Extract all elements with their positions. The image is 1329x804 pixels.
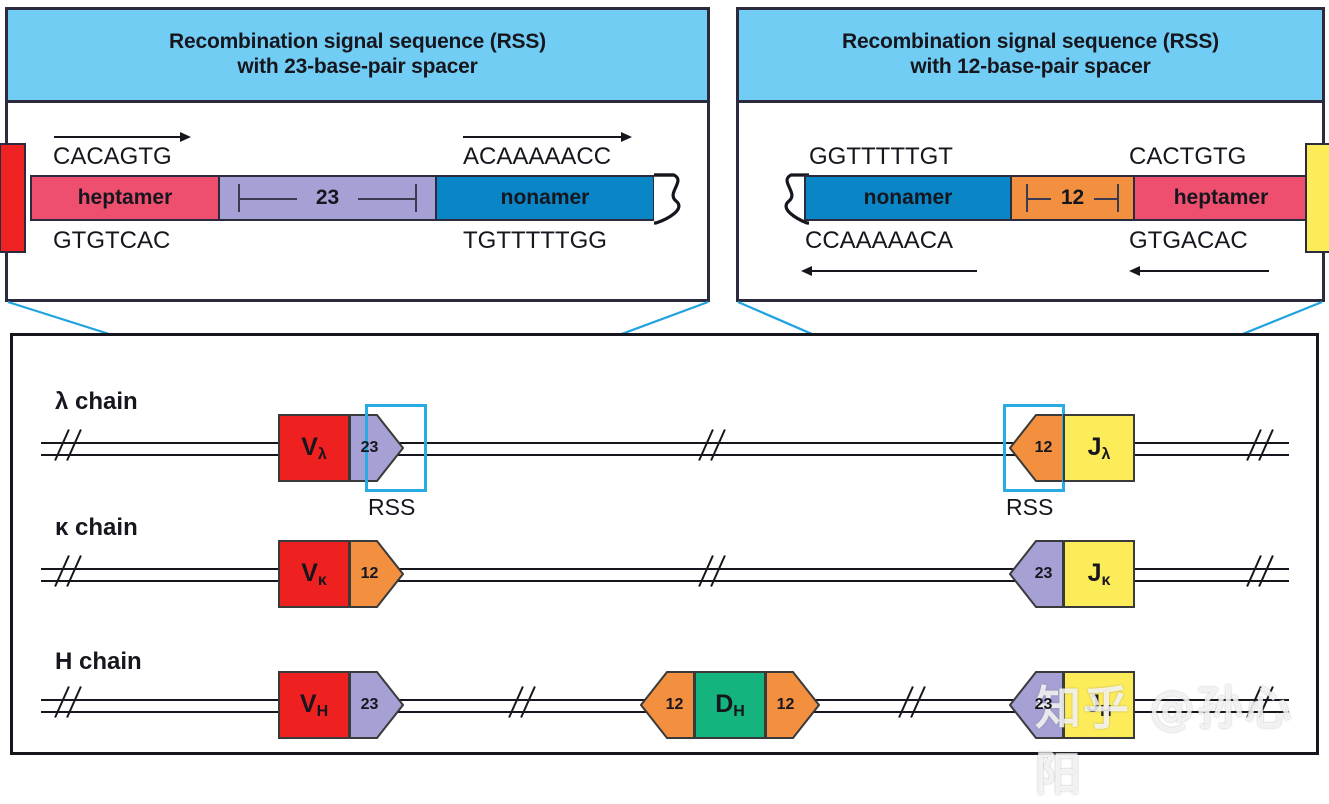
rss-23-bottom-sequence-left: GTGTCAC	[53, 227, 170, 255]
rss-23-spacer-segment: 23	[218, 175, 437, 221]
lambda-v-segment: Vλ	[278, 414, 350, 482]
lambda-j-label: J	[1088, 433, 1102, 461]
rss-12-spacer-tick-right	[1117, 184, 1119, 212]
h-d-rss-left-12: 12	[640, 671, 695, 739]
rss-12-panel-body: GGTTTTTGT CACTGTG nonamer 12 heptamer CC…	[739, 103, 1322, 302]
rss-23-title-line1: Recombination signal sequence (RSS)	[169, 30, 546, 55]
rss-23-top-sequence-left: CACAGTG	[53, 143, 172, 171]
rss-23-spacer-label: 23	[316, 186, 339, 210]
rss-12-bar: nonamer 12 heptamer	[804, 175, 1309, 221]
h-d-label: D	[715, 690, 733, 718]
rss-23-bar: heptamer 23 nonamer	[30, 175, 655, 221]
lambda-break-right	[1249, 428, 1275, 462]
rss-12-panel-title: Recombination signal sequence (RSS) with…	[739, 10, 1322, 103]
kappa-j-subscript: κ	[1101, 572, 1110, 589]
rss-23-title-line2: with 23-base-pair spacer	[169, 55, 546, 80]
h-d-rss-right-value: 12	[777, 696, 795, 714]
lambda-v-label: V	[301, 433, 318, 461]
rss-12-top-sequence-right: CACTGTG	[1129, 143, 1246, 171]
h-break-right	[1249, 685, 1275, 719]
rss-23-top-right-arrow-line	[463, 136, 623, 138]
h-v-rss-23: 23	[349, 671, 404, 739]
rss-23-panel-title: Recombination signal sequence (RSS) with…	[8, 10, 707, 103]
h-v-subscript: H	[317, 703, 329, 720]
rss-12-spacer-segment: 12	[1010, 175, 1135, 221]
h-break-mid-right	[901, 685, 927, 719]
h-j-rss-value: 23	[1035, 696, 1053, 714]
rss-12-title-line1: Recombination signal sequence (RSS)	[842, 30, 1219, 55]
lambda-v-rss-caption: RSS	[368, 494, 415, 521]
rss-12-spacer-rule-right	[1094, 198, 1118, 200]
rss-23-bottom-sequence-right: TGTTTTTGG	[463, 227, 607, 255]
lambda-j-subscript: λ	[1102, 446, 1111, 463]
rss-12-spacer-label: 12	[1061, 186, 1084, 210]
h-v-rss-value: 23	[361, 696, 379, 714]
lambda-v-rss-value: 23	[361, 439, 379, 457]
rss-23-panel-body: CACAGTG ACAAAAACC heptamer 23 nonamer GT…	[8, 103, 707, 302]
kappa-v-label: V	[301, 559, 318, 587]
rss-23-red-endcap	[0, 143, 26, 253]
rss-12-bottom-left-arrow-line	[811, 270, 977, 272]
kappa-v-segment: Vκ	[278, 540, 350, 608]
lambda-break-middle	[701, 428, 727, 462]
kappa-j-label: J	[1088, 559, 1102, 587]
rss-12-heptamer-segment: heptamer	[1133, 175, 1309, 221]
rss-12-bottom-right-arrowhead	[1129, 266, 1140, 276]
kappa-break-middle	[701, 554, 727, 588]
h-j-label: J	[1086, 690, 1100, 718]
rss-23-spacer-rule-right	[358, 198, 416, 200]
lambda-j-segment: Jλ	[1063, 414, 1135, 482]
rss-23-top-left-arrow-line	[54, 136, 182, 138]
kappa-v-rss-12: 12	[349, 540, 404, 608]
rss-23-top-right-arrowhead	[621, 132, 632, 142]
h-chain-label: H chain	[55, 648, 142, 676]
rss-23-spacer-tick-right	[415, 184, 417, 212]
h-j-segment: JH	[1063, 671, 1135, 739]
rss-23-panel: Recombination signal sequence (RSS) with…	[5, 7, 710, 302]
rss-23-nonamer-segment: nonamer	[435, 175, 655, 221]
rss-23-top-left-arrowhead	[180, 132, 191, 142]
rss-23-spacer-rule-left	[239, 198, 297, 200]
rss-12-bottom-sequence-left: CCAAAAACA	[805, 227, 953, 255]
h-break-mid-left	[511, 685, 537, 719]
kappa-break-right	[1249, 554, 1275, 588]
rss-23-heptamer-segment: heptamer	[30, 175, 220, 221]
rss-12-yellow-endcap	[1305, 143, 1329, 253]
h-v-label: V	[300, 690, 317, 718]
h-v-segment: VH	[278, 671, 350, 739]
h-d-rss-left-value: 12	[666, 696, 684, 714]
rss-23-top-sequence-right: ACAAAAACC	[463, 143, 611, 171]
h-j-rss-23: 23	[1009, 671, 1064, 739]
kappa-chain-label: κ chain	[55, 514, 138, 542]
kappa-break-left	[57, 554, 83, 588]
rss-12-top-sequence-left: GGTTTTTGT	[809, 143, 953, 171]
lambda-break-left	[57, 428, 83, 462]
kappa-v-rss-value: 12	[361, 565, 379, 583]
h-d-subscript: H	[733, 703, 745, 720]
h-d-rss-right-12: 12	[765, 671, 820, 739]
lambda-j-rss-caption: RSS	[1006, 494, 1053, 521]
rss-12-title-line2: with 12-base-pair spacer	[842, 55, 1219, 80]
h-break-left	[57, 685, 83, 719]
h-j-subscript: H	[1100, 703, 1112, 720]
lambda-j-rss-value: 12	[1035, 439, 1053, 457]
rss-12-spacer-rule-left	[1027, 198, 1051, 200]
rss-12-bottom-sequence-right: GTGACAC	[1129, 227, 1248, 255]
kappa-j-segment: Jκ	[1063, 540, 1135, 608]
kappa-v-subscript: κ	[318, 572, 327, 589]
h-d-segment: DH	[694, 671, 766, 739]
rss-12-panel: Recombination signal sequence (RSS) with…	[736, 7, 1325, 302]
gene-loci-panel: λ chain Vλ 23 RSS 12 RSS Jλ κ chain	[10, 333, 1319, 755]
rss-23-break-squiggle	[652, 173, 694, 225]
rss-12-bottom-right-arrow-line	[1139, 270, 1269, 272]
rss-12-bottom-left-arrowhead	[801, 266, 812, 276]
rss-12-nonamer-segment: nonamer	[804, 175, 1012, 221]
lambda-chain-label: λ chain	[55, 388, 138, 416]
kappa-j-rss-23: 23	[1009, 540, 1064, 608]
kappa-j-rss-value: 23	[1035, 565, 1053, 583]
lambda-v-subscript: λ	[318, 446, 327, 463]
